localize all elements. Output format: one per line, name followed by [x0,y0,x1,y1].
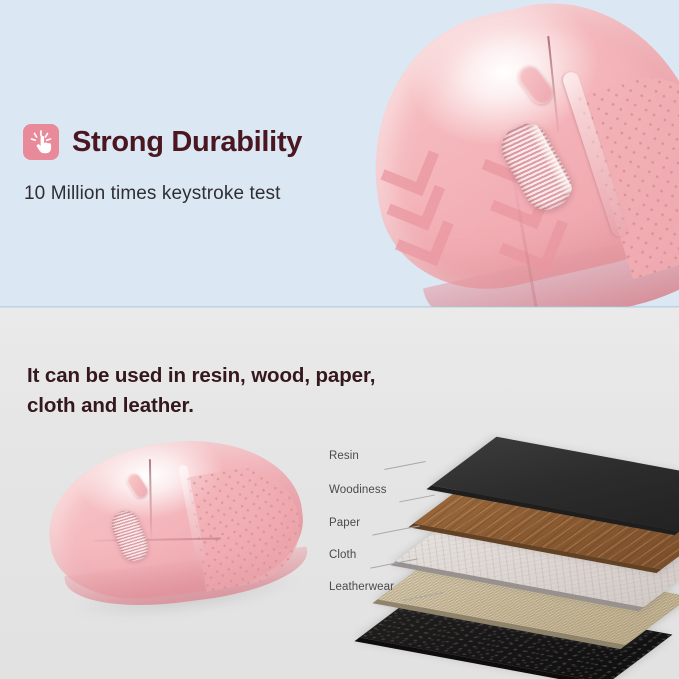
material-label-resin: Resin [329,450,359,462]
scroll-wheel [108,507,153,566]
materials-heading-line2: cloth and leather. [27,394,194,417]
materials-heading: It can be used in resin, wood, paper, cl… [27,361,375,420]
material-label-paper: Paper [329,517,360,529]
materials-panel: It can be used in resin, wood, paper, cl… [0,308,679,679]
material-stack [392,416,668,646]
feature-heading-row: Strong Durability [23,124,302,160]
durability-panel: Strong Durability 10 Million times keyst… [0,0,679,307]
feature-title: Strong Durability [72,128,302,157]
feature-subtitle: 10 Million times keystroke test [24,183,281,205]
mouse-body [343,0,679,307]
click-hand-icon [23,124,59,160]
mouse-body [40,427,311,609]
mouse-full-image [33,420,325,646]
materials-heading-line1: It can be used in resin, wood, paper, [27,364,375,387]
dpi-button [124,471,150,500]
mouse-button-seam [149,459,152,539]
material-label-leatherwear: Leatherwear [329,581,394,593]
material-label-cloth: Cloth [329,549,356,561]
mouse-closeup-image [314,0,679,307]
material-label-woodiness: Woodiness [329,484,387,496]
